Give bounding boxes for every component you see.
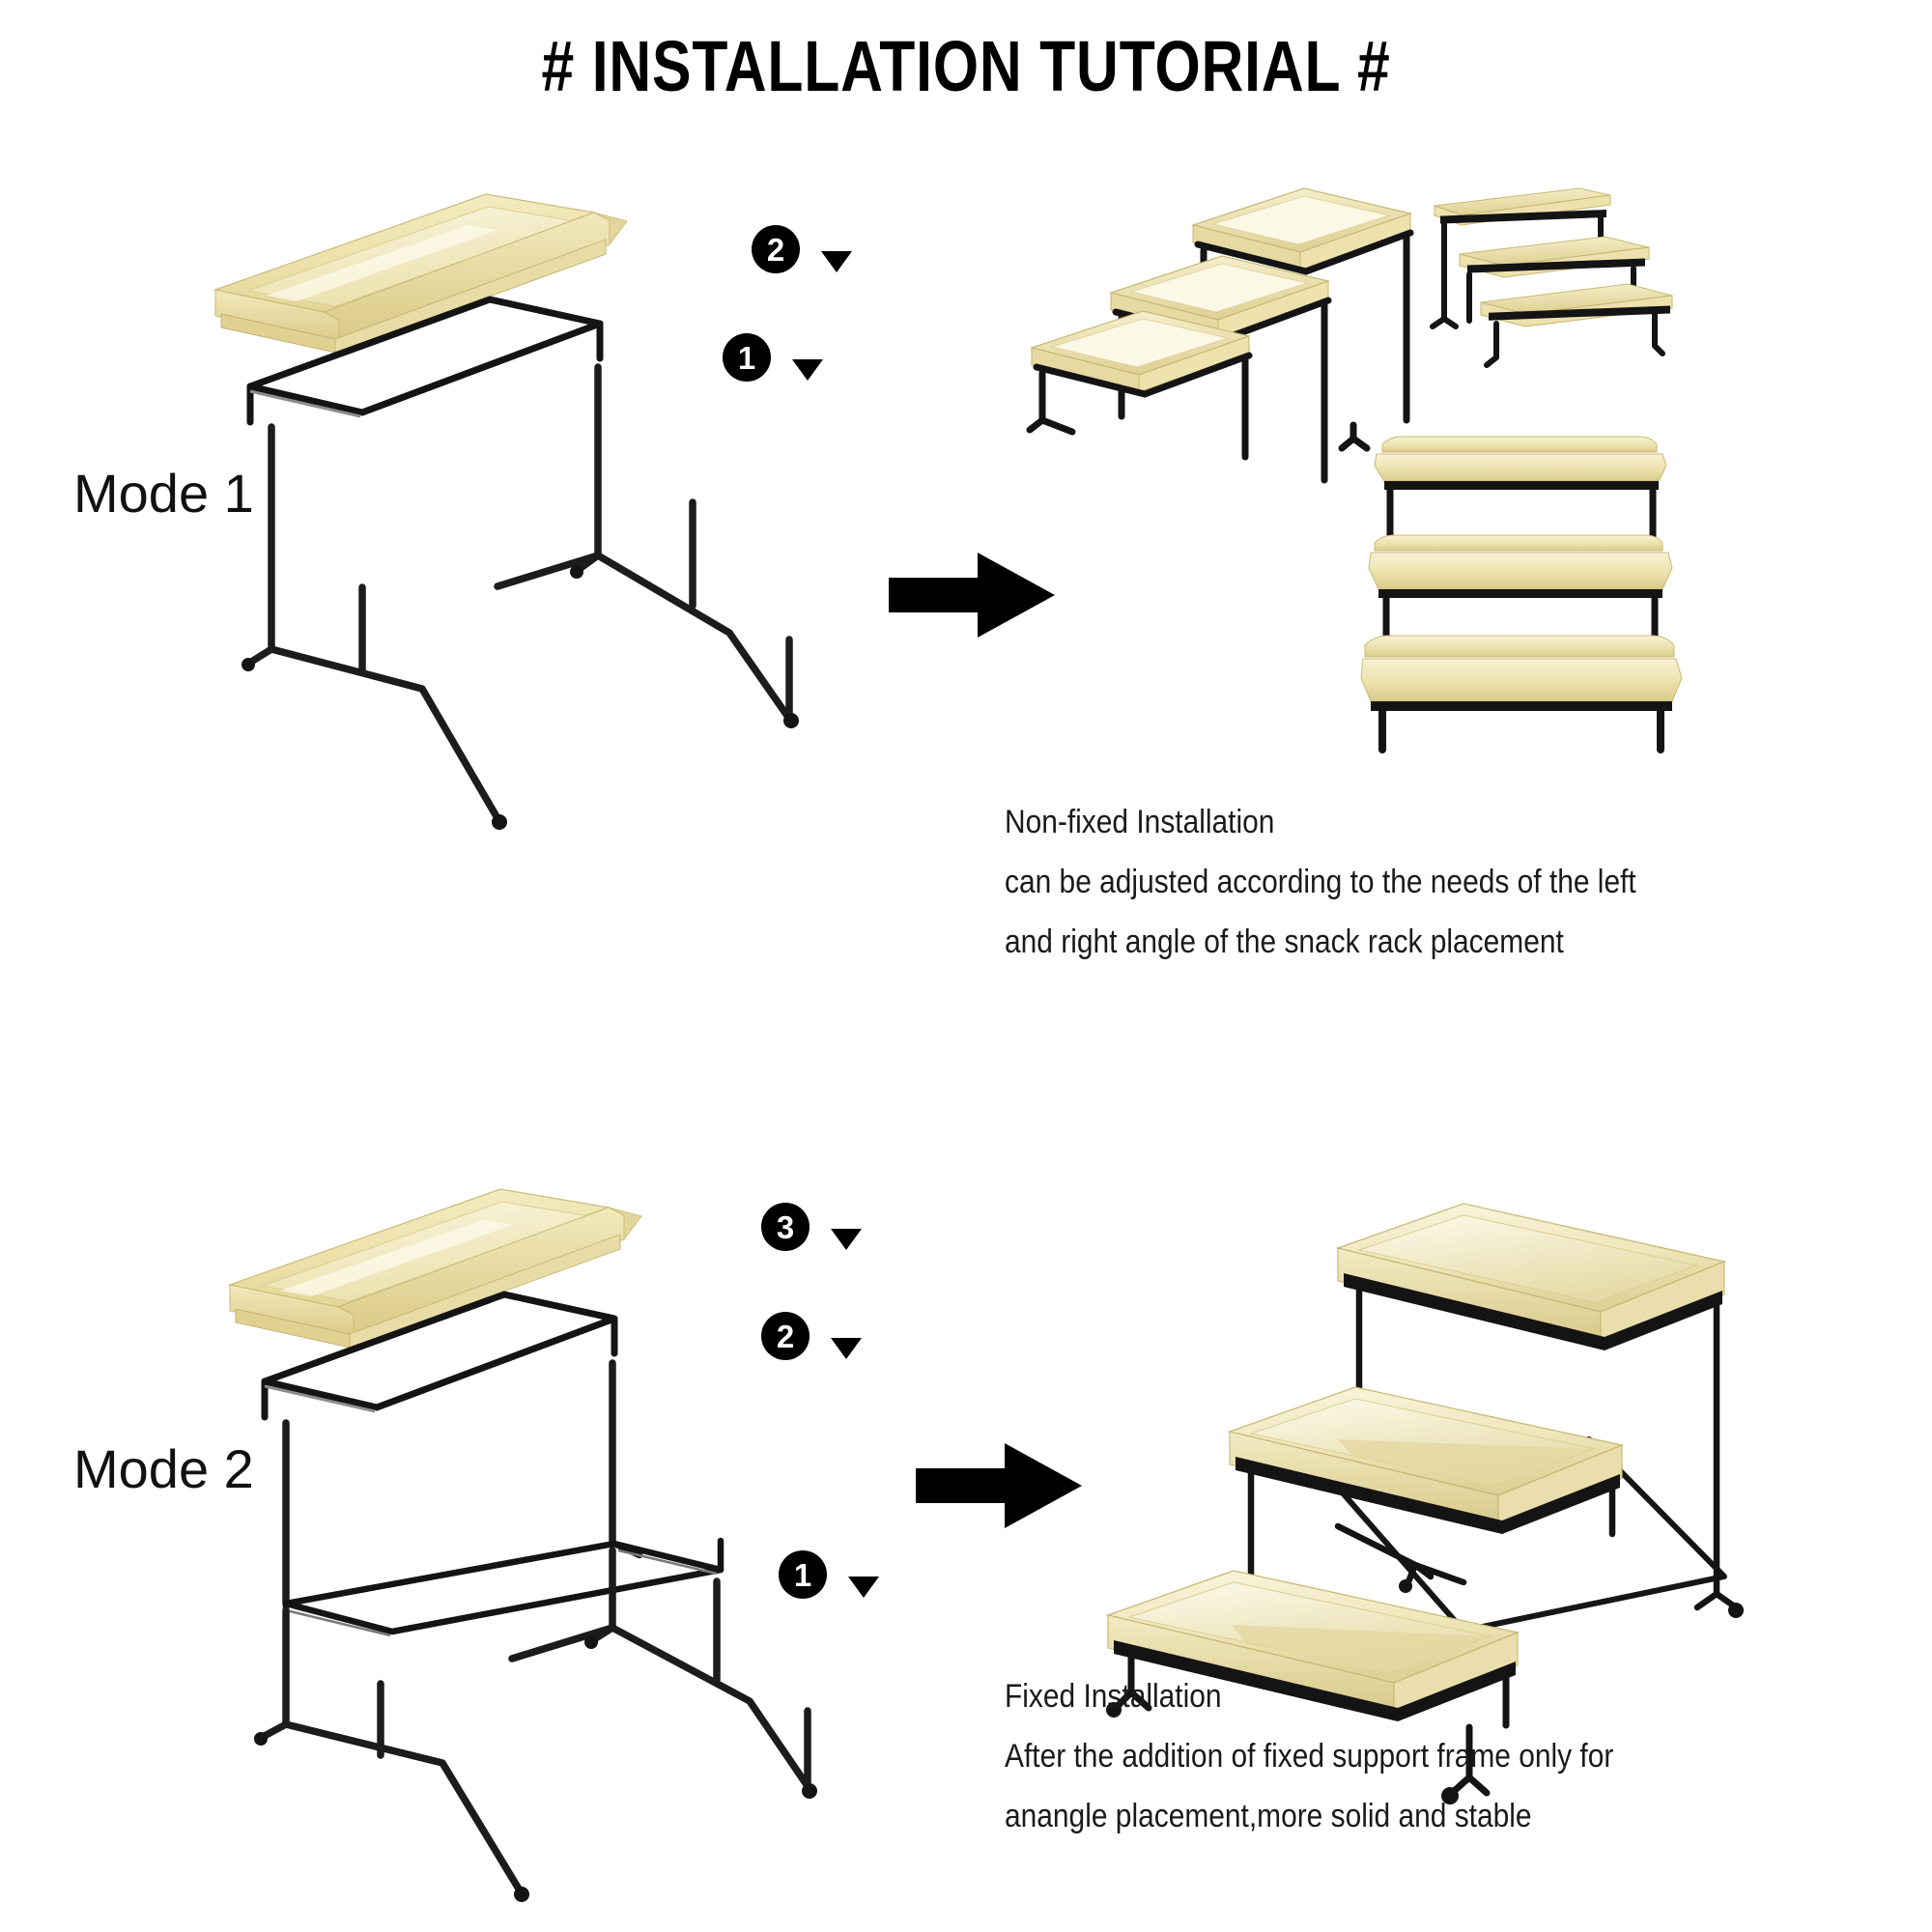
tray-part	[230, 1189, 641, 1348]
step-number: 2	[752, 225, 800, 273]
down-triangle-icon	[792, 359, 823, 381]
step-marker-1: 1	[723, 333, 823, 382]
tier-bottom	[1361, 636, 1682, 750]
tray-part	[215, 194, 627, 353]
stand-foot-tips	[241, 565, 799, 830]
step-number: 3	[761, 1203, 810, 1251]
step-number: 2	[761, 1312, 810, 1360]
mode-2-caption: Fixed Installation After the addition of…	[1005, 1666, 1613, 1846]
caption-line-2: can be adjusted according to the needs o…	[1005, 852, 1636, 912]
tier-bottom	[1481, 284, 1672, 365]
mode-2-assembled-diagram	[1048, 1198, 1744, 1739]
caption-line-3: and right angle of the snack rack placem…	[1005, 912, 1636, 972]
step-marker-3: 3	[761, 1203, 862, 1251]
stand-foot-tips	[254, 1635, 817, 1902]
step-marker-2: 2	[761, 1312, 862, 1360]
caption-heading: Fixed Installation	[1005, 1666, 1613, 1726]
mode-1-assembled-front-view	[1348, 425, 1763, 753]
tier-middle	[1369, 535, 1672, 645]
tier-top	[1375, 437, 1666, 537]
mode-1-arrow	[889, 549, 1063, 645]
step-marker-2: 2	[752, 225, 852, 273]
page-title: # INSTALLATION TUTORIAL #	[174, 25, 1758, 107]
caption-line-3: anangle placement,more solid and stable	[1005, 1786, 1613, 1846]
down-triangle-icon	[821, 251, 852, 272]
down-triangle-icon	[831, 1229, 862, 1250]
mode-1-caption: Non-fixed Installation can be adjusted a…	[1005, 792, 1636, 972]
stand-legs-part	[248, 367, 789, 818]
down-triangle-icon	[848, 1577, 879, 1598]
step-number: 1	[779, 1550, 827, 1599]
step-marker-1: 1	[779, 1550, 879, 1599]
right-arrow-icon	[889, 553, 1055, 638]
down-triangle-icon	[831, 1338, 862, 1359]
mode-1-assembled-side-view	[1406, 174, 1792, 386]
stand-legs-part	[261, 1550, 808, 1890]
fixed-support-frame	[286, 1541, 721, 1632]
caption-line-2: After the addition of fixed support fram…	[1005, 1726, 1613, 1786]
caption-heading: Non-fixed Installation	[1005, 792, 1636, 852]
step-number: 1	[723, 333, 771, 382]
tier-bottom	[1030, 311, 1249, 457]
tier-middle	[1230, 1387, 1622, 1584]
mode-2-exploded-diagram	[222, 1164, 918, 1869]
